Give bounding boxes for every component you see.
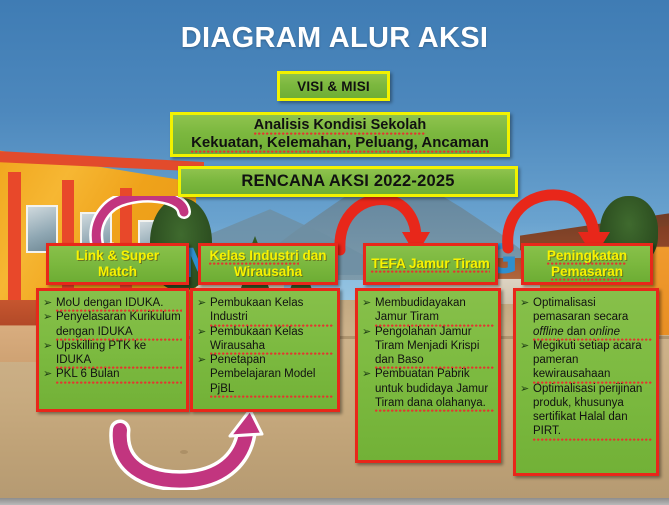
banner-analisis-kondisi-sekolah[interactable]: Analisis Kondisi Sekolah Kekuatan, Kelem… [170,112,510,157]
list-item-text: Optimalisasi perijinan produk, khusunya … [533,382,652,439]
list-item: ➢ MoU dengan IDUKA. [43,296,182,310]
list-item: ➢ PKL 6 Bulan [43,367,182,381]
bullet-list: ➢ Pembukaan Kelas Industri ➢ Pembukaan K… [197,296,333,396]
column-header-line1: Kelas Industri [209,248,298,263]
column-header-line2: Match [76,264,159,280]
slide-canvas: M K U G DIAGRAM ALUR AKSI VISI & MISI An… [0,0,669,505]
bullet-arrow-icon: ➢ [520,296,533,310]
list-item-text: Pembukaan Kelas Wirausaha [210,325,333,354]
column-header-line1: Link & Super [76,248,159,264]
list-item: ➢ Penetapan Pembelajaran Model PjBL [197,353,333,396]
bullet-arrow-icon: ➢ [197,296,210,310]
page-title: DIAGRAM ALUR AKSI [0,22,669,55]
column-body-link-super-match: ➢ MoU dengan IDUKA. ➢ Penyelasaran Kurik… [36,288,189,412]
list-item-text: Penetapan Pembelajaran Model PjBL [210,353,333,396]
list-item: ➢ Pengolahan Jamur Tiram Menjadi Krispi … [362,325,494,368]
banner-visi-misi-label: VISI & MISI [297,79,370,94]
column-body-peningkatan-pemasaran: ➢ Optimalisasi pemasaran secara offline … [513,288,659,476]
arrow-loop-bottom [102,412,282,490]
column-header-peningkatan-pemasaran[interactable]: Peningkatan Pemasaran [521,243,653,285]
bullet-list: ➢ MoU dengan IDUKA. ➢ Penyelasaran Kurik… [43,296,182,382]
column-header-line1: Peningkatan [547,248,627,263]
column-body-tefa-jamur-tiram: ➢ Membudidayakan Jamur Tiram ➢ Pengolaha… [355,288,501,463]
banner-rencana-aksi-label: RENCANA AKSI 2022-2025 [241,172,454,191]
list-item: ➢ Optimalisasi pemasaran secara offline … [520,296,652,339]
bullet-arrow-icon: ➢ [197,325,210,339]
list-item-text: MoU dengan IDUKA. [56,296,182,310]
list-item-text: PKL 6 Bulan [56,367,182,381]
list-item-text: Upskilling PTK ke IDUKA [56,339,182,368]
column-header-line2: Pemasaran [551,264,623,279]
list-item-text: Optimalisasi pemasaran secara offline da… [533,296,652,339]
column-header-line2: Tiram [453,256,490,271]
bullet-list: ➢ Membudidayakan Jamur Tiram ➢ Pengolaha… [362,296,494,410]
column-header-kelas-industri[interactable]: Kelas Industri dan Wirausaha [198,243,338,285]
list-item: ➢ Pembuatan Pabrik untuk budidaya Jamur … [362,367,494,410]
bullet-arrow-icon: ➢ [43,339,56,353]
list-item-text: Penyelasaran Kurikulum dengan IDUKA [56,310,182,339]
bullet-arrow-icon: ➢ [197,353,210,367]
list-item: ➢ Pembukaan Kelas Industri [197,296,333,325]
list-item-text: Membudidayakan Jamur Tiram [375,296,494,325]
bullet-arrow-icon: ➢ [43,310,56,324]
list-item-text: Pembukaan Kelas Industri [210,296,333,325]
list-item-text: Pengolahan Jamur Tiram Menjadi Krispi da… [375,325,494,368]
bullet-arrow-icon: ➢ [43,367,56,381]
list-item: ➢ Penyelasaran Kurikulum dengan IDUKA [43,310,182,339]
bullet-arrow-icon: ➢ [520,339,533,353]
bullet-arrow-icon: ➢ [362,296,375,310]
bullet-arrow-icon: ➢ [362,367,375,381]
list-item: ➢ Megikuti setiap acara pameran kewiraus… [520,339,652,382]
banner-visi-misi[interactable]: VISI & MISI [277,71,390,101]
list-item: ➢ Upskilling PTK ke IDUKA [43,339,182,368]
bullet-arrow-icon: ➢ [43,296,56,310]
banner-analisis-line1: Analisis Kondisi Sekolah [254,117,426,133]
banner-rencana-aksi[interactable]: RENCANA AKSI 2022-2025 [178,166,518,197]
column-header-tefa-jamur-tiram[interactable]: TEFA Jamur Tiram [363,243,498,285]
list-item: ➢ Membudidayakan Jamur Tiram [362,296,494,325]
list-item: ➢ Pembukaan Kelas Wirausaha [197,325,333,354]
column-body-kelas-industri: ➢ Pembukaan Kelas Industri ➢ Pembukaan K… [190,288,340,412]
slide-bottom-bar [0,498,669,505]
column-header-link-super-match[interactable]: Link & Super Match [46,243,189,285]
list-item-text: Megikuti setiap acara pameran kewirausah… [533,339,652,382]
bullet-arrow-icon: ➢ [520,382,533,396]
column-header-line1: TEFA Jamur [371,256,449,271]
list-item: ➢ Optimalisasi perijinan produk, khusuny… [520,382,652,439]
bullet-list: ➢ Optimalisasi pemasaran secara offline … [520,296,652,439]
list-item-text: Pembuatan Pabrik untuk budidaya Jamur Ti… [375,367,494,410]
bullet-arrow-icon: ➢ [362,325,375,339]
banner-analisis-line2: Kekuatan, Kelemahan, Peluang, Ancaman [191,134,489,151]
